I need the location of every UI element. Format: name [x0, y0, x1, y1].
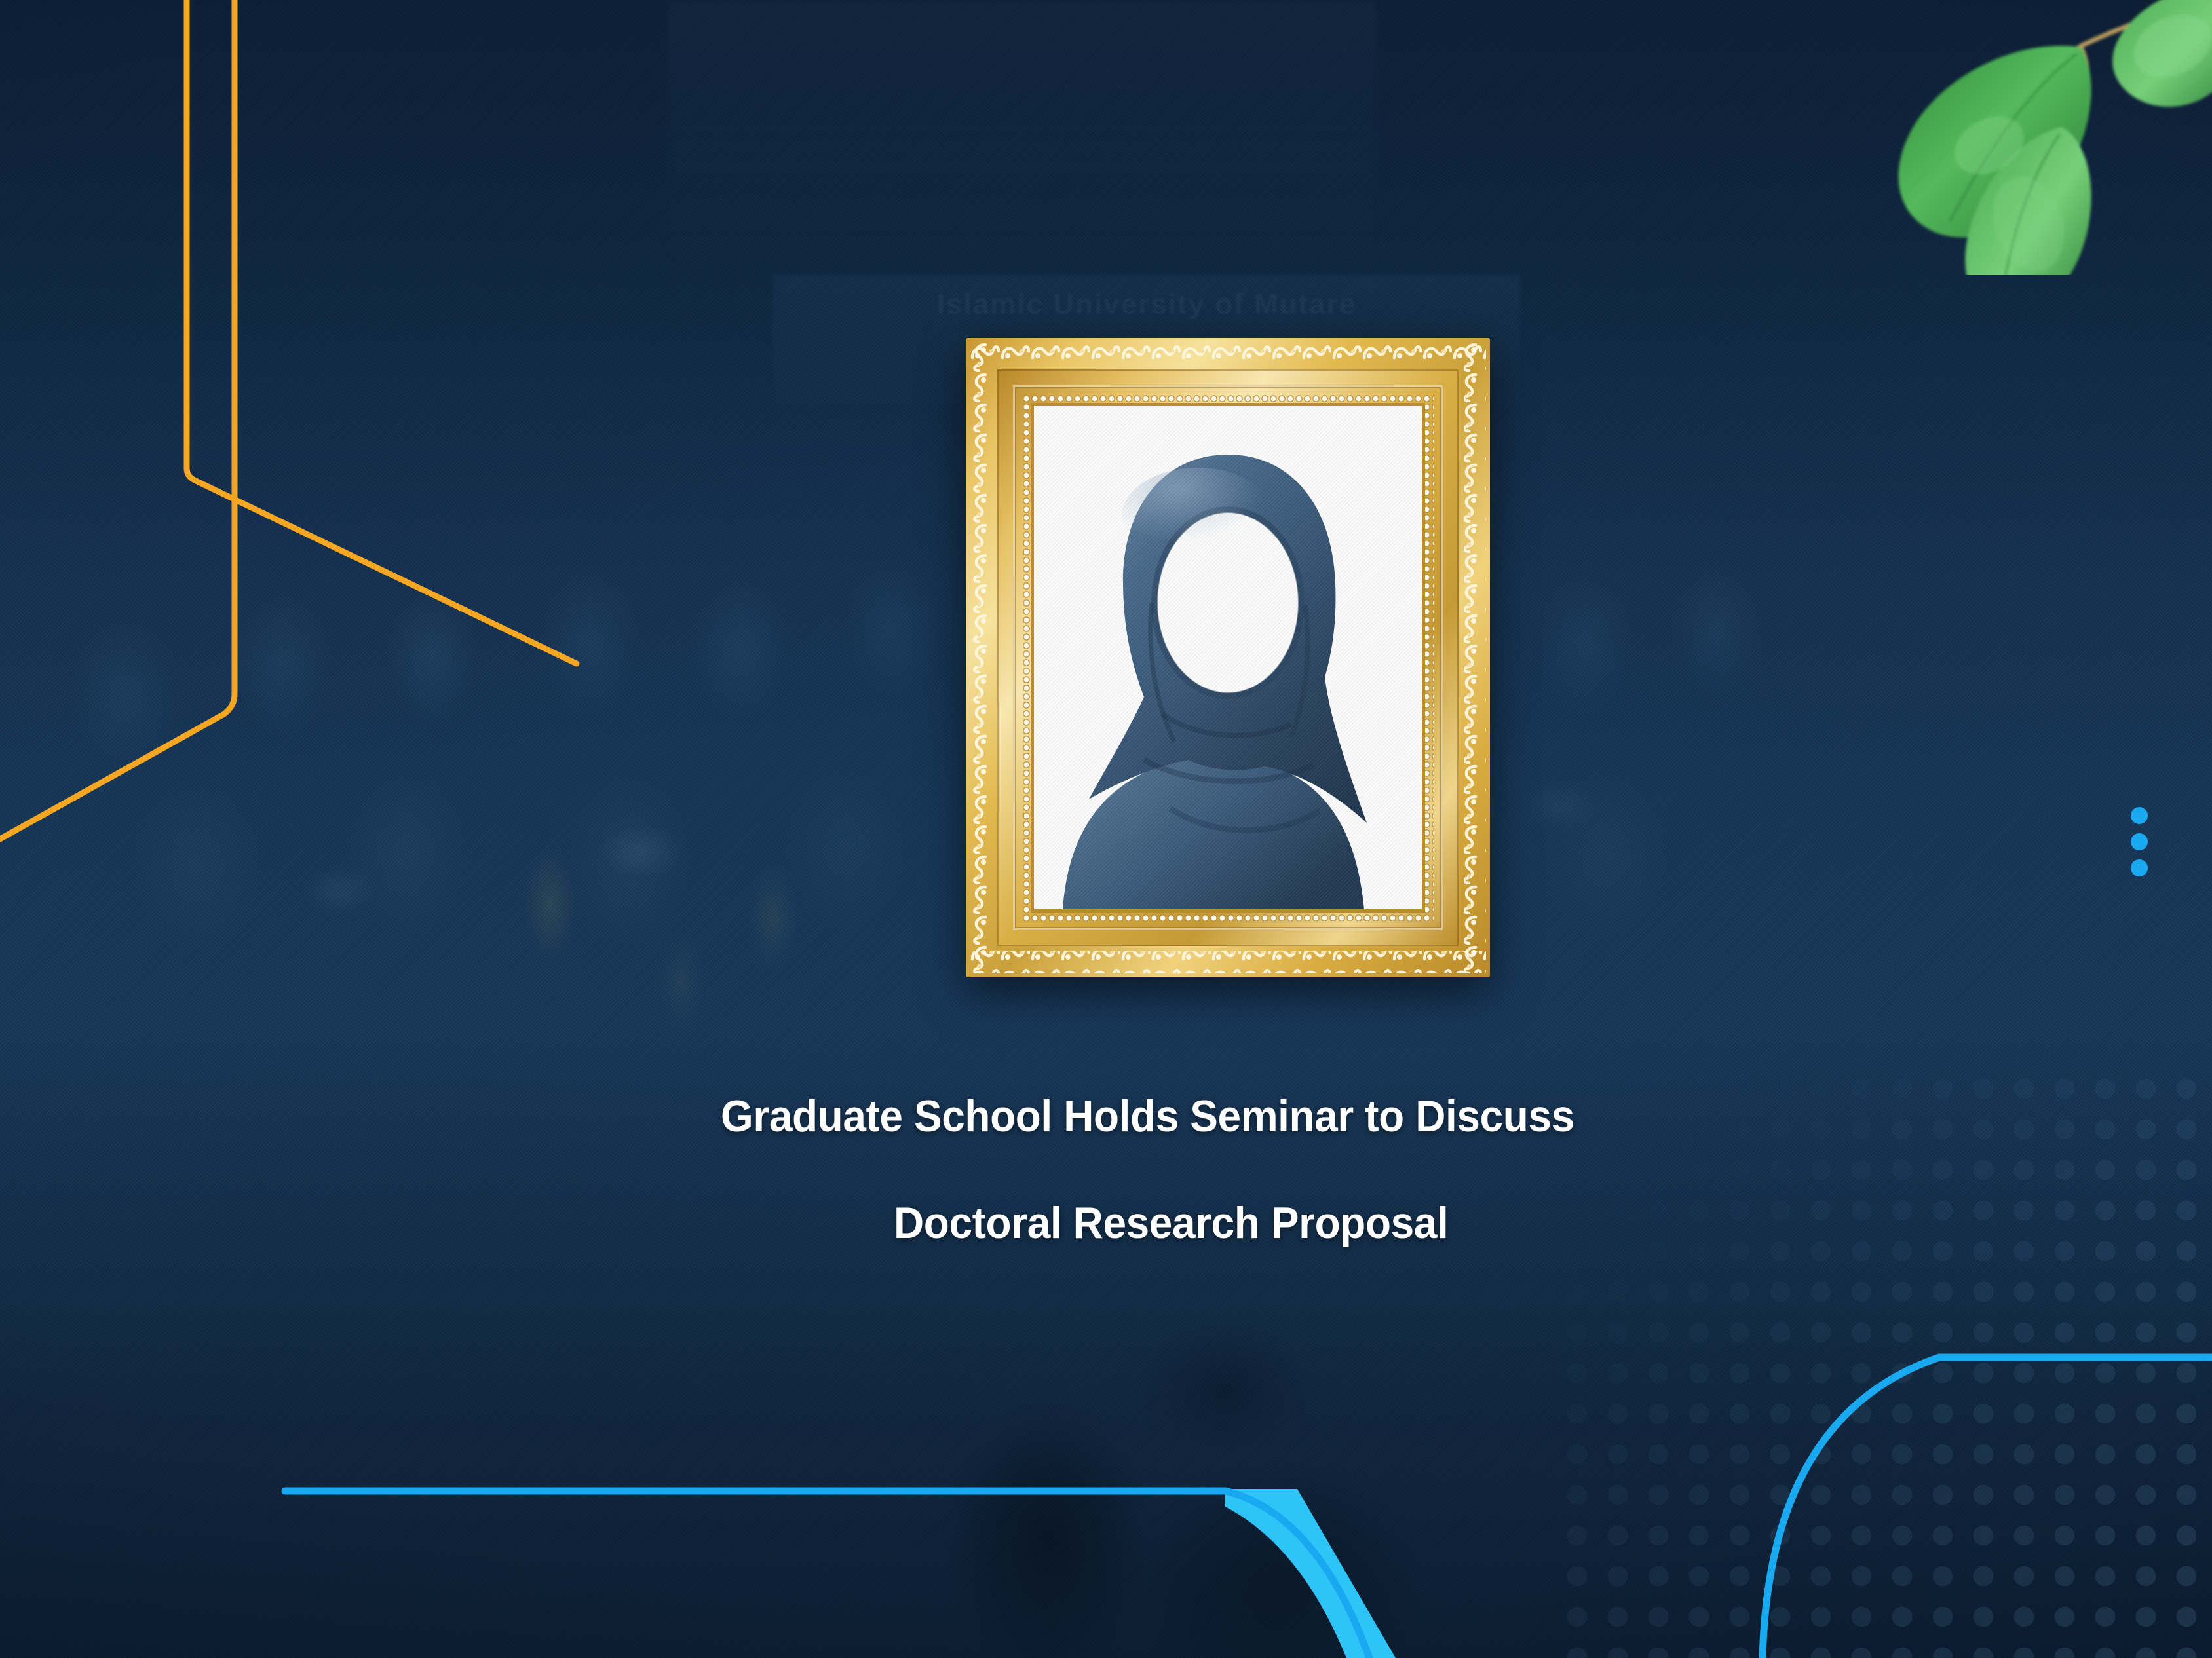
dot-3 [2131, 859, 2148, 876]
leaf-branch-icon [1753, 0, 2212, 275]
photo-hatch-overlay [1034, 406, 1422, 909]
dot-1 [2131, 807, 2148, 824]
portrait-frame [966, 338, 1490, 977]
portrait-photo [1034, 406, 1422, 909]
slide-title-line-1: Graduate School Holds Seminar to Discuss [721, 1094, 1706, 1139]
presentation-slide: Islamic University of Mutare [0, 0, 2212, 1658]
dot-2 [2131, 833, 2148, 850]
slide-title-line-2: Doctoral Research Proposal [752, 1201, 1738, 1245]
three-vertical-dots-icon[interactable] [2131, 807, 2148, 876]
slide-title-block: Graduate School Holds Seminar to Discuss… [721, 1094, 1769, 1245]
